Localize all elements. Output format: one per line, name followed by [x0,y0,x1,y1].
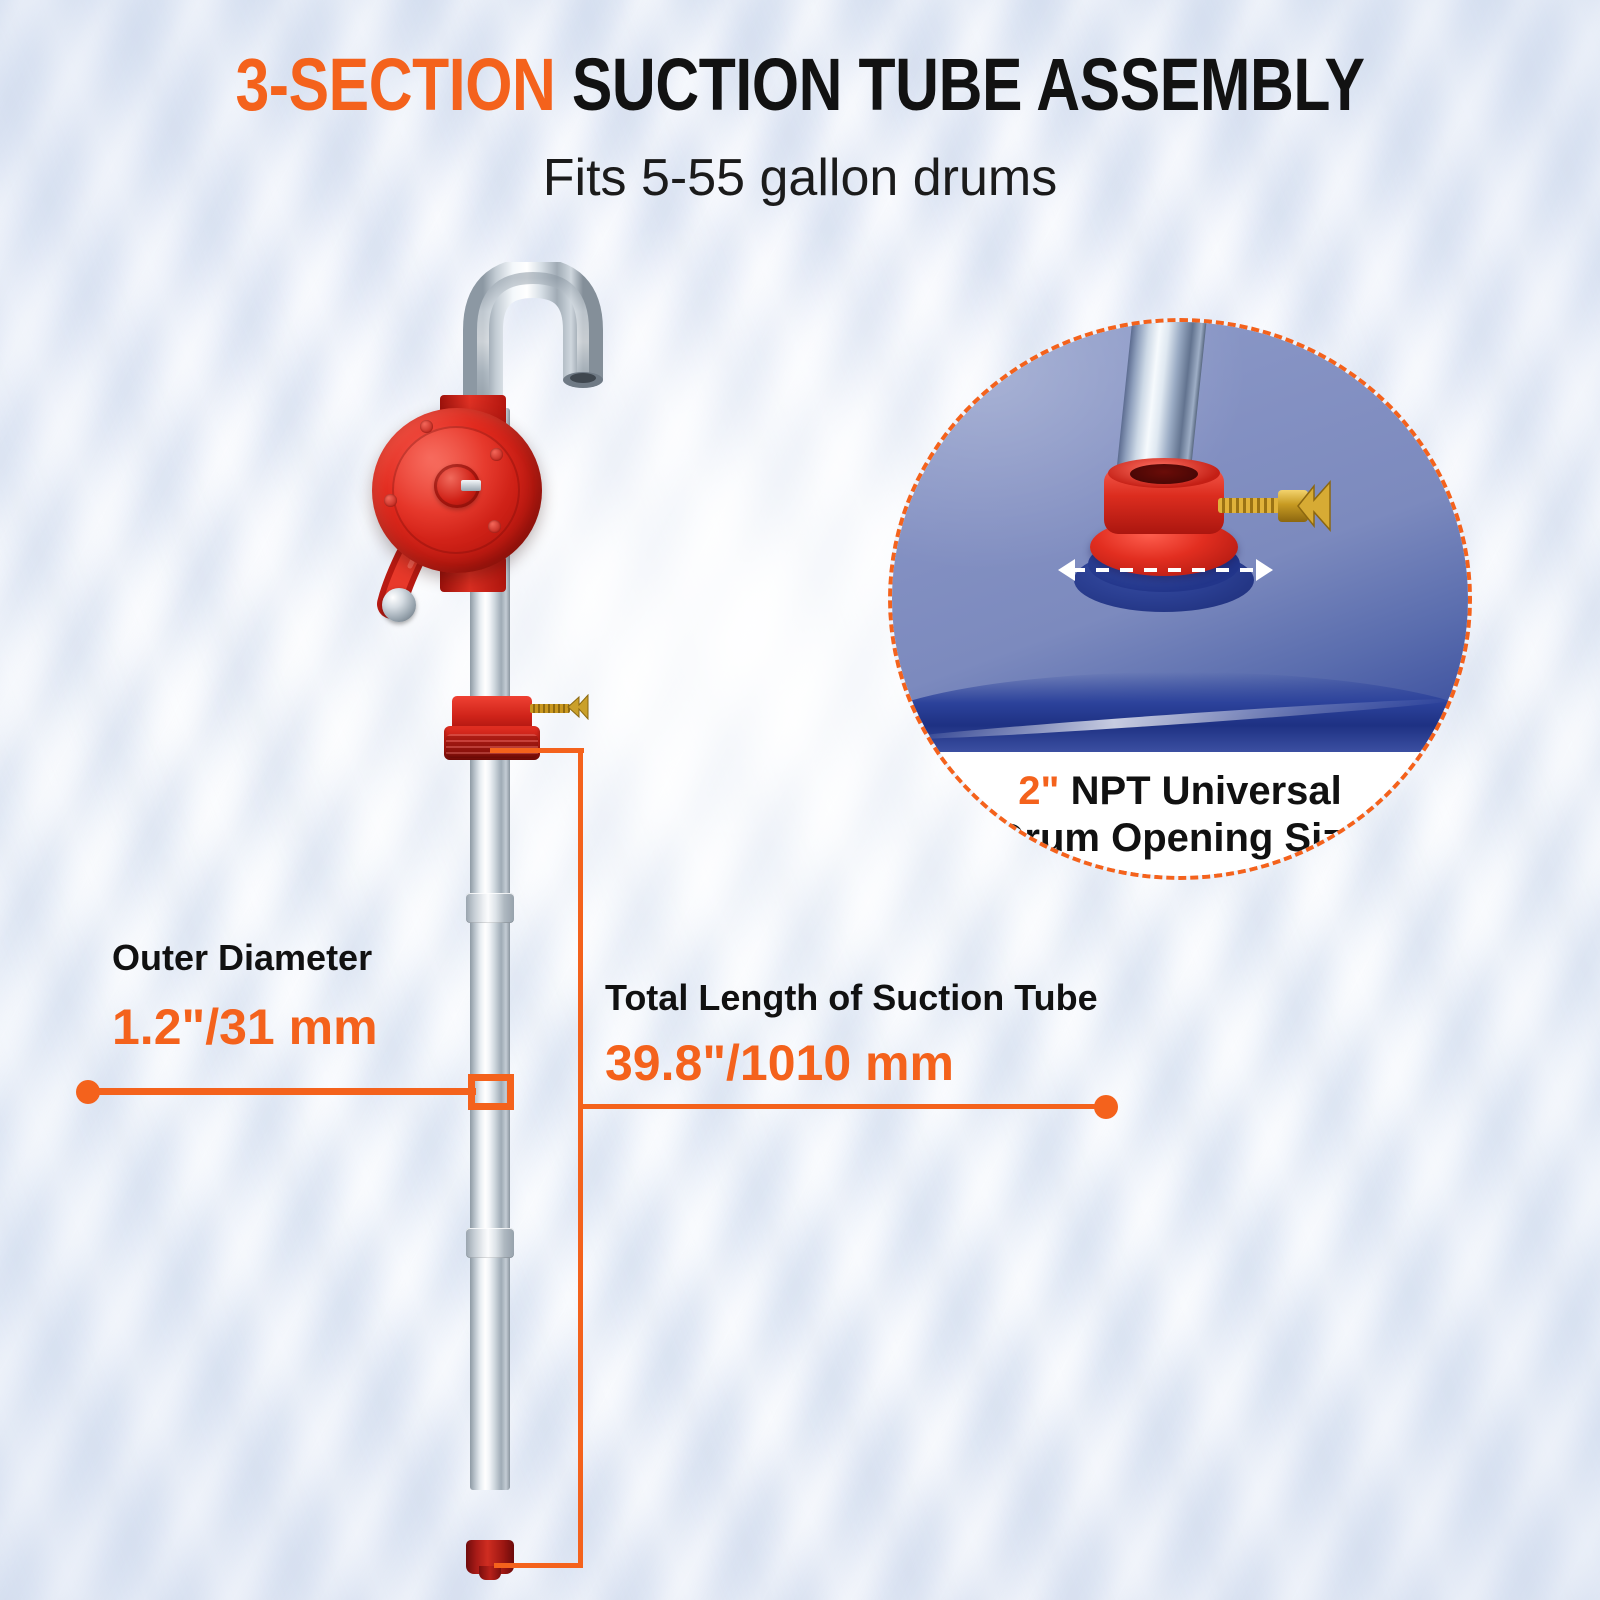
detail-caption-line-2: Drum Opening Size [892,815,1468,862]
total-length-leader-dot [1094,1095,1118,1119]
detail-caption: 2" NPT Universal Drum Opening Size [892,752,1468,876]
outer-diameter-label: Outer Diameter [112,940,372,976]
page-title: 3-SECTION SUCTION TUBE ASSEMBLY [144,48,1456,122]
infographic-canvas: 3-SECTION SUCTION TUBE ASSEMBLY Fits 5-5… [0,0,1600,1600]
adapter-nut-bore [1130,464,1198,484]
opening-diameter-arrow-right [1256,559,1273,581]
detail-caption-rest: NPT Universal [1071,769,1342,813]
detail-caption-highlight: 2" [1018,769,1059,813]
opening-diameter-arrow-left [1058,559,1075,581]
total-length-label: Total Length of Suction Tube [605,980,1098,1016]
drum-opening-detail-callout: 2" NPT Universal Drum Opening Size [888,318,1472,880]
detail-caption-line-1: 2" NPT Universal [892,768,1468,815]
title-highlight: 3-SECTION [235,43,555,126]
opening-diameter-dashed-line [1072,568,1264,572]
outer-diameter-value: 1.2"/31 mm [112,1002,378,1052]
title-rest: SUCTION TUBE ASSEMBLY [572,43,1365,126]
outer-diameter-leader-line [88,1088,476,1095]
total-length-bottom-tick [494,1563,583,1568]
total-length-value: 39.8"/1010 mm [605,1038,954,1088]
total-length-top-tick [490,748,584,753]
detail-photo [892,322,1468,752]
page-subtitle: Fits 5-55 gallon drums [0,152,1600,204]
detail-wing-screw-wings [1296,480,1332,532]
total-length-vertical-line [578,748,583,1568]
total-length-leader-line [578,1104,1108,1109]
outer-diameter-bracket-bottom [468,1103,514,1110]
